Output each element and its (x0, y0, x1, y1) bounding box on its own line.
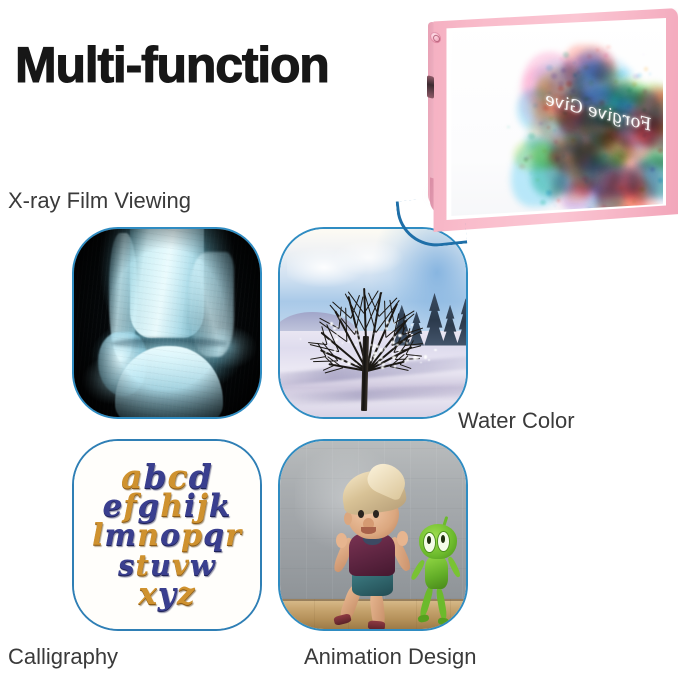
cursive-alphabet-image: abcdefghijklmnopqrstuvwxyz (74, 441, 260, 629)
watercolor-spatter (566, 81, 572, 86)
watercolor-spatter (532, 146, 534, 148)
snow-speck (393, 322, 395, 324)
calligraphy-letter: y (158, 579, 177, 610)
snow-speck (328, 340, 331, 343)
feature-cell-water-color (278, 227, 468, 419)
calligraphy-letter: r (225, 521, 242, 551)
snow-speck (358, 339, 361, 342)
snow-speck (342, 342, 344, 344)
snow-speck (406, 342, 408, 344)
watercolor-spatter (632, 200, 636, 203)
caption-water-color: Water Color (458, 408, 575, 434)
watercolor-spatter (650, 167, 655, 172)
calligraphy-row: xyz (138, 579, 195, 610)
image-frame-calligraphy: abcdefghijklmnopqrstuvwxyz (72, 439, 262, 631)
calligraphy-letter: m (105, 521, 138, 551)
watercolor-spatter (536, 179, 539, 181)
watercolor-spatter (561, 68, 566, 73)
snow-speck (348, 341, 350, 343)
snow-speck (408, 330, 409, 331)
snow-speck (434, 349, 436, 351)
light-pad-illuminated-surface: Forgive Give (447, 18, 663, 218)
watercolor-spatter (524, 157, 528, 161)
snow-speck (355, 363, 357, 365)
snow-speck (300, 338, 302, 340)
caption-animation-design: Animation Design (304, 644, 476, 670)
watercolor-spatter (588, 80, 594, 85)
watercolor-spatter (604, 53, 609, 57)
watercolor-spatter (658, 178, 663, 183)
infographic-canvas: Multi-function X-ray Film Viewing Water … (0, 0, 679, 681)
watercolor-spatter (558, 81, 564, 86)
snow-speck (339, 316, 341, 318)
image-frame-animation-design (278, 439, 468, 631)
watercolor-spatter (626, 104, 632, 109)
feature-cell-calligraphy: abcdefghijklmnopqrstuvwxyz (72, 439, 262, 631)
watercolor-blob (571, 170, 593, 196)
caption-xray-film-viewing: X-ray Film Viewing (8, 188, 191, 214)
snow-speck (392, 356, 395, 359)
snow-speck (381, 366, 384, 369)
snow-speck (325, 351, 326, 352)
usb-port (427, 75, 434, 99)
watercolor-spatter (528, 133, 535, 139)
watercolor-spatter (542, 149, 547, 153)
snow-speck (411, 324, 413, 326)
evergreen-tree (455, 298, 466, 345)
animation-still-image (280, 441, 466, 629)
watercolor-spatter (649, 73, 651, 75)
watercolor-spatter (642, 109, 646, 113)
product-photo-led-light-pad: Forgive Give (404, 2, 679, 242)
calligraphy-letter: z (177, 579, 196, 610)
watercolor-spatter (614, 80, 618, 83)
watercolor-spatter (643, 54, 645, 55)
snow-speck (343, 315, 344, 316)
watercolor-spatter (624, 196, 626, 198)
calligraphy-letter: x (138, 579, 157, 610)
watercolor-spatter (644, 67, 648, 71)
page-title: Multi-function (15, 38, 329, 92)
image-frame-xray (72, 227, 262, 419)
snow-speck (335, 338, 338, 341)
watercolor-spatter (606, 45, 611, 50)
watercolor-spatter (555, 156, 560, 161)
snow-speck (392, 346, 394, 348)
snow-speck (355, 344, 357, 346)
feature-cell-animation-design (278, 439, 468, 631)
snow-covered-tree (299, 263, 448, 380)
snow-speck (420, 362, 421, 363)
watercolor-spatter (553, 129, 556, 132)
watercolor-spatter (627, 88, 632, 93)
calligraphy-row: lmnopqr (92, 521, 242, 551)
watercolor-spatter (529, 171, 533, 175)
calligraphy-letter: q (203, 521, 225, 551)
watercolor-spatter (563, 52, 569, 57)
snow-speck (380, 357, 382, 359)
snow-speck (385, 327, 388, 330)
winter-tree-watercolor-image (280, 229, 466, 417)
watercolor-spatter (596, 49, 598, 51)
watercolor-spatter (639, 187, 644, 192)
snow-speck (333, 362, 335, 364)
snow-speck (412, 334, 413, 335)
calligraphy-letter: s (118, 551, 135, 580)
snow-speck (379, 348, 383, 352)
snow-speck (428, 359, 430, 361)
watercolor-spatter (507, 126, 510, 128)
calligraphy-letter: n (137, 521, 160, 551)
watercolor-spatter (546, 65, 553, 71)
snow-speck (331, 345, 332, 346)
snow-speck (336, 334, 338, 336)
snow-speck (373, 352, 377, 356)
snow-speck (406, 358, 409, 361)
feature-image-grid: abcdefghijklmnopqrstuvwxyz (72, 227, 470, 631)
watercolor-spatter (539, 122, 543, 126)
snow-speck (333, 327, 336, 330)
calligraphy-letter: p (181, 521, 203, 551)
snow-speck (389, 361, 391, 363)
cartoon-boy-character (330, 471, 416, 621)
xray-film-image (74, 229, 260, 417)
watercolor-spatter (573, 62, 575, 64)
watercolor-spatter (637, 73, 642, 78)
watercolor-spatter (554, 205, 556, 207)
calligraphy-letter: o (160, 521, 181, 551)
snow-speck (330, 322, 333, 325)
watercolor-spatter (634, 93, 636, 94)
snow-speck (392, 353, 394, 355)
green-alien-character (412, 524, 462, 622)
snow-speck (396, 344, 399, 347)
snow-speck (399, 334, 402, 337)
snow-speck (373, 355, 376, 358)
tree-branch (310, 356, 326, 360)
calligraphy-letter: l (92, 521, 104, 551)
snow-speck (384, 347, 386, 349)
snow-speck (404, 361, 406, 363)
watercolor-spatter (583, 65, 589, 70)
watercolor-spatter (643, 89, 648, 93)
snow-speck (370, 344, 372, 346)
snow-speck (334, 351, 336, 353)
image-frame-water-color (278, 227, 468, 419)
snow-speck (424, 355, 428, 359)
feature-cell-xray (72, 227, 262, 419)
snow-speck (403, 341, 405, 343)
snow-speck (393, 336, 395, 338)
caption-calligraphy: Calligraphy (8, 644, 118, 670)
